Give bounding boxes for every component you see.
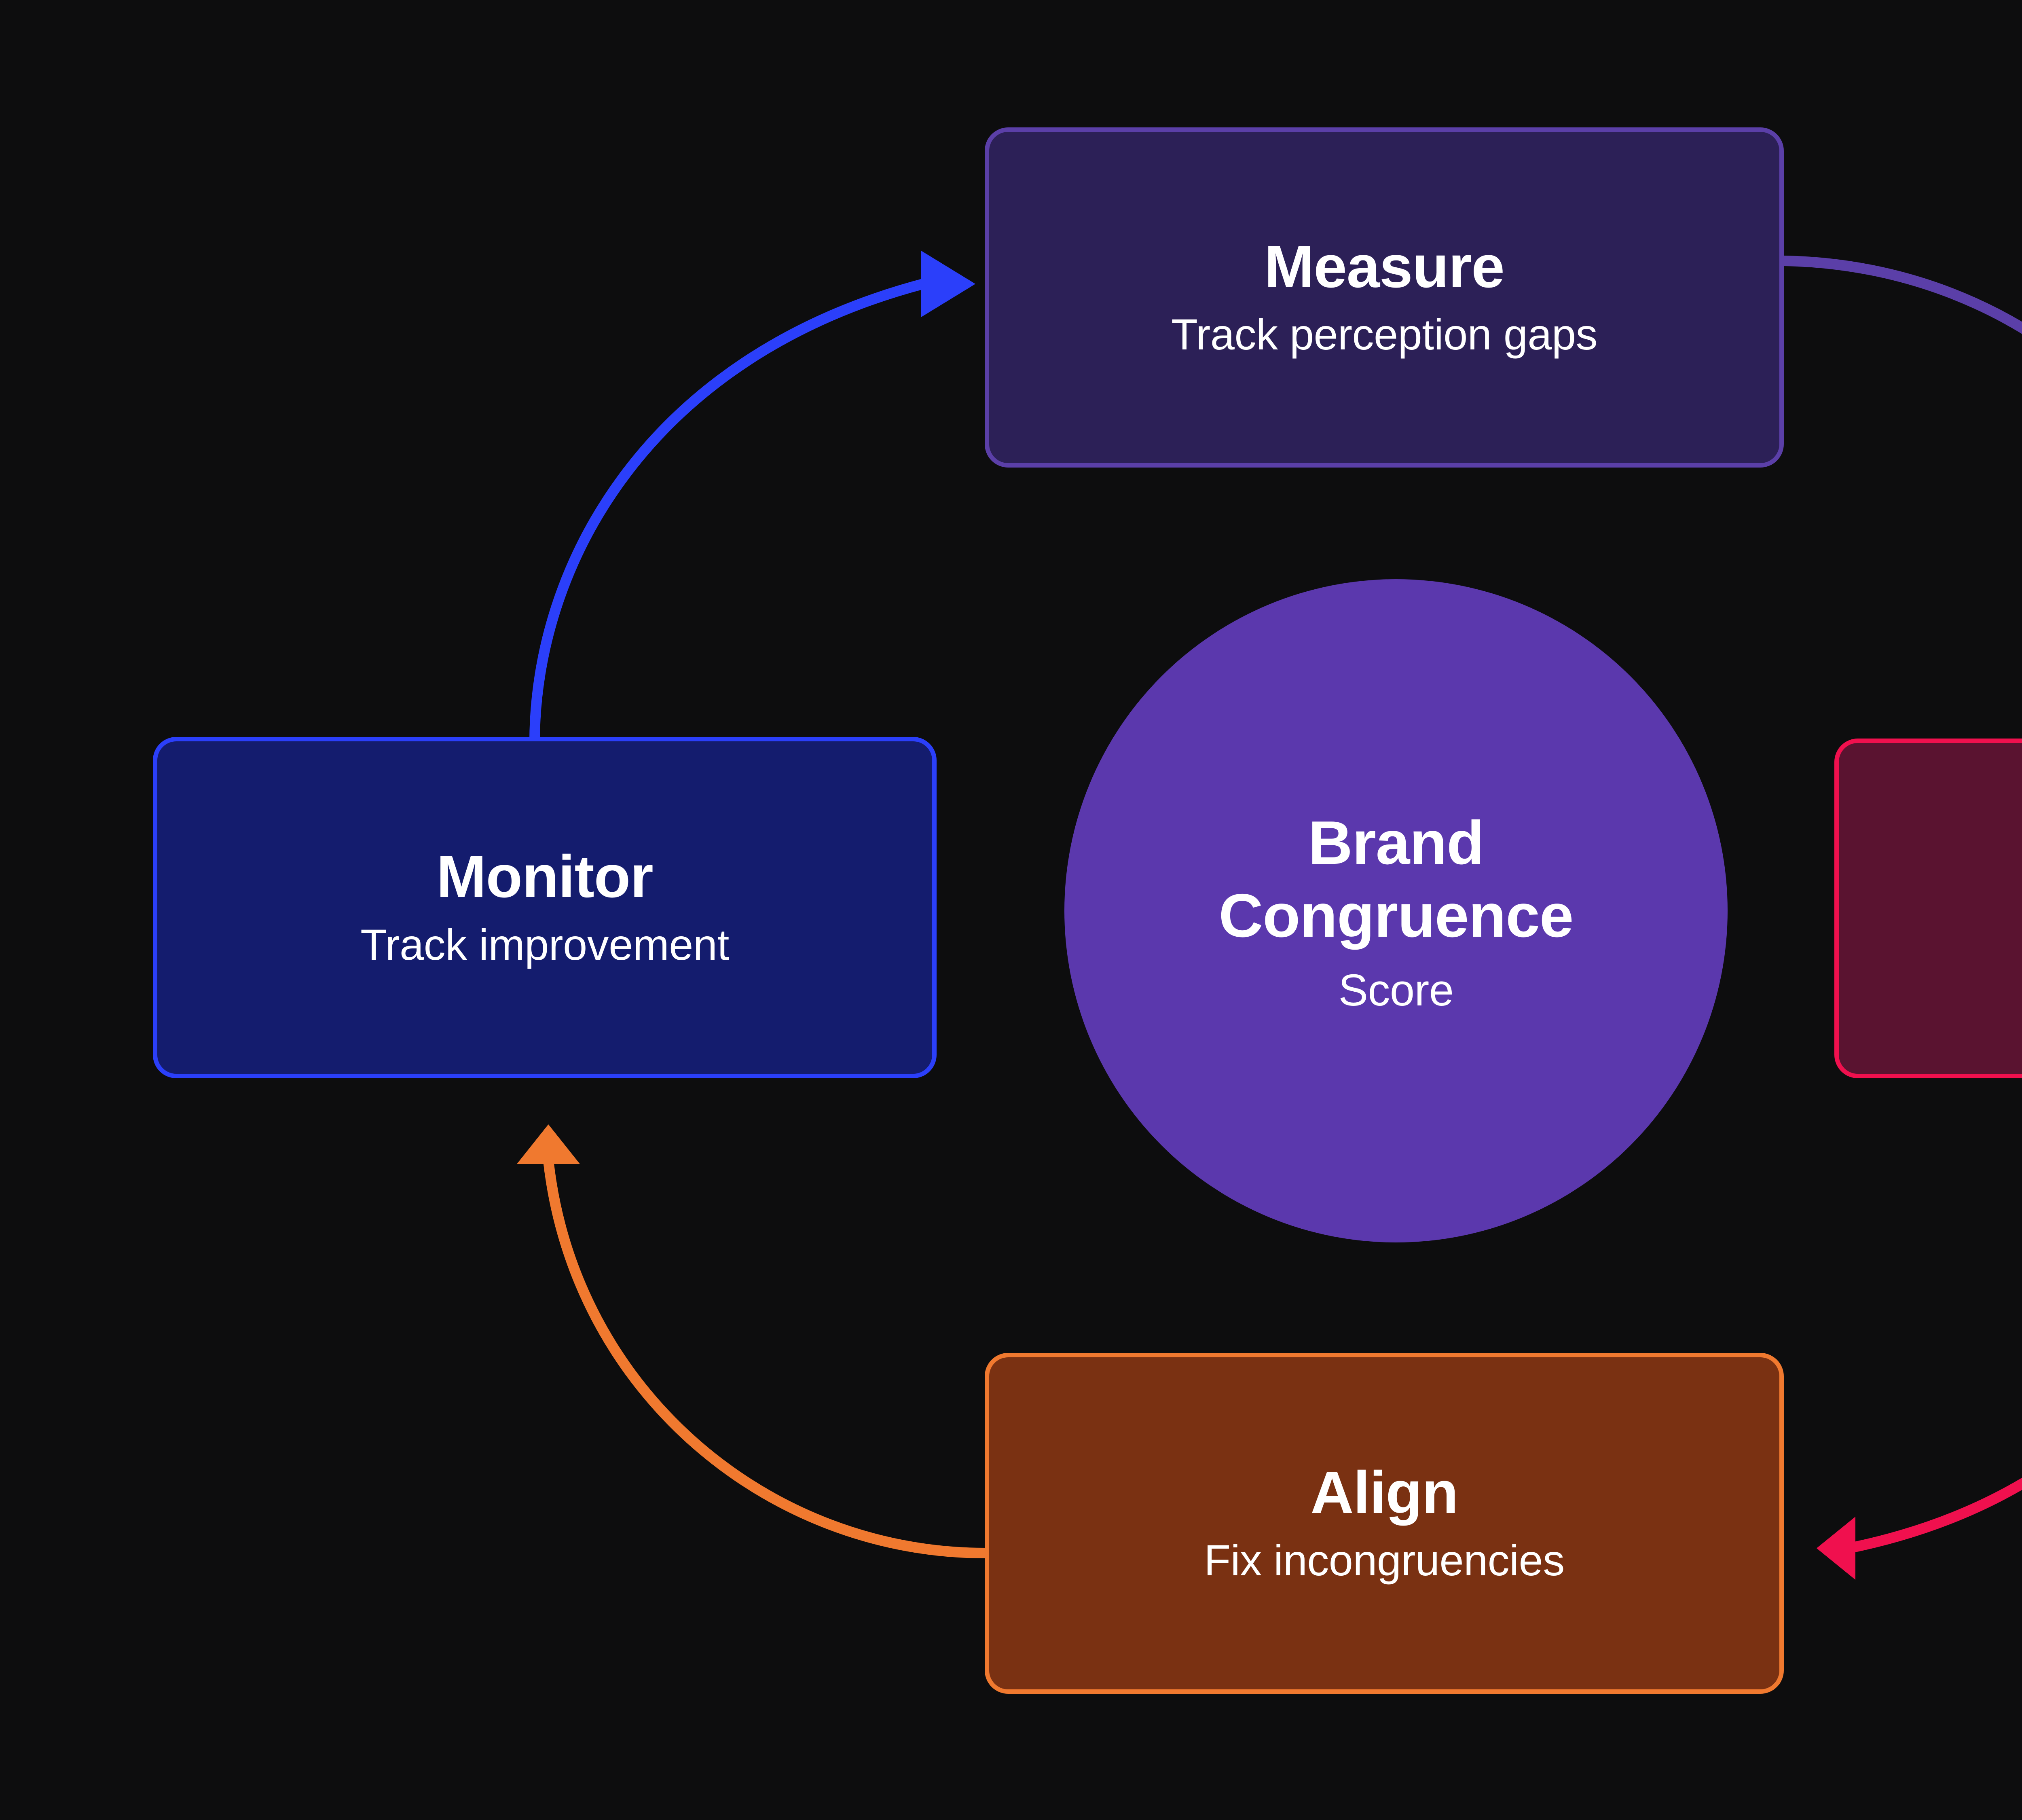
arrow-analyze-to-align — [1817, 1079, 2022, 1580]
center-hub-title: Brand Congruence — [1141, 807, 1651, 952]
arrow-measure-to-analyze — [1784, 261, 2022, 724]
center-hub-subtitle: Score — [1339, 966, 1454, 1015]
arrow-align-to-monitor — [517, 1124, 985, 1553]
node-align-subtitle: Fix incongruencies — [1204, 1535, 1564, 1585]
node-measure[interactable]: Measure Track perception gaps — [985, 127, 1784, 468]
arrow-monitor-to-measure — [535, 251, 975, 742]
node-align[interactable]: Align Fix incongruencies — [985, 1353, 1784, 1694]
node-monitor-title: Monitor — [436, 845, 653, 908]
node-monitor-subtitle: Track improvement — [360, 920, 729, 970]
node-monitor[interactable]: Monitor Track improvement — [153, 737, 937, 1078]
node-measure-subtitle: Track perception gaps — [1171, 309, 1597, 360]
node-align-title: Align — [1311, 1461, 1458, 1524]
cycle-diagram: Measure Track perception gaps Analyze Id… — [0, 0, 2022, 1820]
center-hub: Brand Congruence Score — [1064, 579, 1728, 1242]
node-analyze[interactable]: Analyze Identify break points — [1834, 739, 2022, 1078]
node-measure-title: Measure — [1264, 235, 1504, 298]
